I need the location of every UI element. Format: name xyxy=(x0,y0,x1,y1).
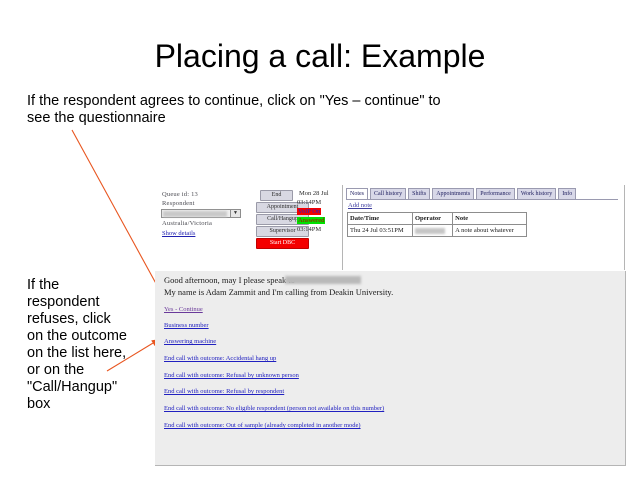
chevron-down-icon[interactable]: ▼ xyxy=(230,210,240,217)
respondent-label: Respondent xyxy=(162,200,195,207)
tab-appointments[interactable]: Appointments xyxy=(432,188,474,199)
status-time-answered: 03:14PM xyxy=(297,226,321,233)
redaction-block-operator xyxy=(415,228,445,234)
show-details-link[interactable]: Show details xyxy=(162,230,195,237)
add-note-link[interactable]: Add note xyxy=(348,202,372,209)
status-date: Mon 28 Jul xyxy=(299,190,329,197)
status-badge-voip: VoIP On xyxy=(297,208,321,215)
table-row[interactable]: Thu 24 Jul 03:51PM A note about whatever xyxy=(348,225,527,237)
cell-note: A note about whatever xyxy=(453,225,527,237)
end-button[interactable]: End xyxy=(260,190,293,201)
respondent-select[interactable]: ▼ xyxy=(161,209,241,218)
script-greeting-line: Good afternoon, may I please speak to xyxy=(164,275,295,285)
cell-operator xyxy=(413,225,453,237)
timezone-label: Australia/Victoria xyxy=(162,220,212,227)
callout-text-top: If the respondent agrees to continue, cl… xyxy=(27,93,457,127)
tab-work-history[interactable]: Work history xyxy=(517,188,556,199)
script-intro-line: My name is Adam Zammit and I'm calling f… xyxy=(164,287,393,297)
notes-table: Date/Time Operator Note Thu 24 Jul 03:51… xyxy=(347,212,527,237)
tab-strip: Notes Call history Shifts Appointments P… xyxy=(346,188,576,199)
tab-shifts[interactable]: Shifts xyxy=(408,188,430,199)
embedded-app-screenshot: Queue id: 13 Respondent ▼ Australia/Vict… xyxy=(155,185,626,466)
tab-performance[interactable]: Performance xyxy=(476,188,515,199)
status-badge-answered: Answered xyxy=(297,217,325,224)
redaction-block-respondent xyxy=(163,211,227,217)
app-top-row: Queue id: 13 Respondent ▼ Australia/Vict… xyxy=(155,185,626,270)
call-info-panel: Queue id: 13 Respondent ▼ Australia/Vict… xyxy=(155,185,343,270)
outcome-link-yes-continue[interactable]: Yes - Continue xyxy=(164,306,203,313)
outcome-link-no-eligible-respondent[interactable]: End call with outcome: No eligible respo… xyxy=(164,405,384,412)
tab-info[interactable]: Info xyxy=(558,188,576,199)
column-header-note: Note xyxy=(453,213,527,225)
outcome-link-refusal-respondent[interactable]: End call with outcome: Refusal by respon… xyxy=(164,388,284,395)
arrow-to-yes-continue xyxy=(72,130,165,300)
table-header-row: Date/Time Operator Note xyxy=(348,213,527,225)
tab-strip-divider xyxy=(346,199,618,200)
outcome-link-business-number[interactable]: Business number xyxy=(164,322,209,329)
start-dbc-button[interactable]: Start DBC xyxy=(256,238,309,249)
outcome-link-out-of-sample[interactable]: End call with outcome: Out of sample (al… xyxy=(164,422,361,429)
page-title: Placing a call: Example xyxy=(0,38,640,75)
tab-call-history[interactable]: Call history xyxy=(370,188,406,199)
notes-panel: Notes Call history Shifts Appointments P… xyxy=(343,185,625,270)
status-time-start: 03:14PM xyxy=(297,199,321,206)
script-area: Good afternoon, may I please speak to My… xyxy=(155,271,626,466)
queue-id-label: Queue id: 13 xyxy=(162,191,198,198)
redaction-block-name xyxy=(285,276,361,284)
tab-notes[interactable]: Notes xyxy=(346,188,368,199)
callout-text-left: If the respondent refuses, click on the … xyxy=(27,277,127,413)
column-header-operator: Operator xyxy=(413,213,453,225)
cell-datetime: Thu 24 Jul 03:51PM xyxy=(348,225,413,237)
outcome-link-accidental-hang-up[interactable]: End call with outcome: Accidental hang u… xyxy=(164,355,276,362)
column-header-datetime: Date/Time xyxy=(348,213,413,225)
outcome-link-refusal-unknown-person[interactable]: End call with outcome: Refusal by unknow… xyxy=(164,372,299,379)
outcome-link-answering-machine[interactable]: Answering machine xyxy=(164,338,216,345)
